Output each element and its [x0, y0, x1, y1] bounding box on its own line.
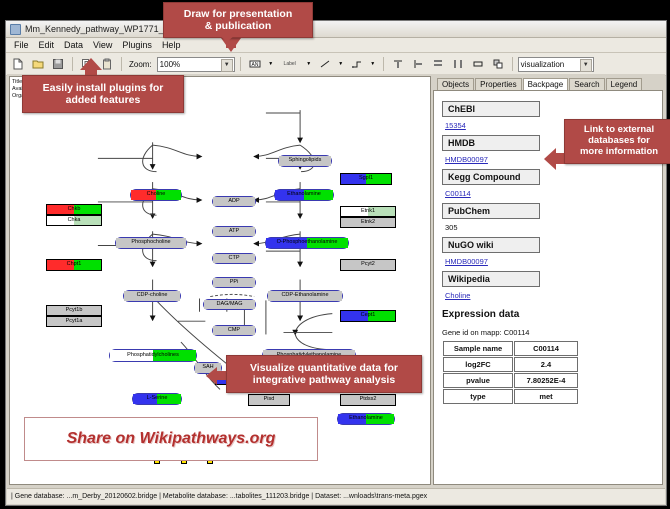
- pathway-node-label: Sphingolipids: [289, 158, 322, 164]
- database-header-chebi: ChEBI: [442, 101, 540, 117]
- pathway-node-label: Ptdss2: [360, 397, 377, 403]
- callout-plugins-line1: Easily install plugins for: [43, 82, 164, 94]
- pathway-node-pcyt1a[interactable]: Pcyt1a: [46, 316, 102, 327]
- pathway-node-label: Chka: [68, 218, 81, 224]
- pathway-node-pcyt2[interactable]: Pcyt2: [340, 259, 396, 271]
- pathway-node-cept1[interactable]: Cept1: [340, 310, 396, 322]
- database-header-wikipedia: Wikipedia: [442, 271, 540, 287]
- expression-value: C00114: [514, 341, 578, 356]
- bring-front-icon[interactable]: [489, 55, 507, 73]
- database-link-nugo-wiki[interactable]: HMDB00097: [445, 257, 654, 266]
- pathway-node-l-serine-left[interactable]: L-Serine: [132, 393, 182, 405]
- gene-id-label: Gene id on mapp: C00114: [442, 328, 654, 337]
- callout-visualize-line1: Visualize quantitative data for: [250, 362, 398, 374]
- pathway-node-pcyt1b[interactable]: Pcyt1b: [46, 305, 102, 316]
- label-chevron-icon[interactable]: ▼: [304, 55, 314, 73]
- visualization-value: visualization: [521, 60, 565, 69]
- pathway-node-label: Chkb: [68, 207, 81, 213]
- callout-draw-line1: Draw for presentation: [184, 8, 293, 20]
- zoom-combobox[interactable]: 100% ▼: [157, 57, 235, 72]
- pathway-node-choline-top[interactable]: Choline: [130, 189, 182, 201]
- pathway-node-label: CTP: [229, 256, 240, 262]
- pathway-node-dagmag[interactable]: DAG/MAG: [203, 299, 256, 310]
- menu-edit[interactable]: Edit: [34, 40, 60, 50]
- expression-key: pvalue: [443, 373, 513, 388]
- pathway-node-ppi[interactable]: PPi: [212, 277, 256, 288]
- pathway-node-label: Pcyt1a: [66, 319, 83, 325]
- pathway-node-sgpl1[interactable]: Sgpl1: [340, 173, 392, 185]
- toolbar: Zoom: 100% ▼ AN ▼ Label ▼ ▼ ▼: [6, 53, 666, 76]
- connector-icon[interactable]: [348, 55, 366, 73]
- expression-row: typemet: [443, 389, 578, 404]
- pathway-node-label: ATP: [229, 229, 239, 235]
- visualization-combobox[interactable]: visualization ▼: [518, 57, 594, 72]
- callout-link-line3: more information: [580, 146, 658, 157]
- expression-value: 2.4: [514, 357, 578, 372]
- pathway-node-adp[interactable]: ADP: [212, 196, 256, 207]
- callout-plugins-line2: added features: [66, 94, 141, 106]
- menu-plugins[interactable]: Plugins: [117, 40, 157, 50]
- tab-legend[interactable]: Legend: [606, 78, 643, 90]
- distribute-icon[interactable]: [449, 55, 467, 73]
- pathway-node-label: Sgpl1: [359, 176, 373, 182]
- callout-easily-install-plugins: Easily install plugins for added feature…: [22, 75, 184, 113]
- pathway-node-cdp-ethanolamine[interactable]: CDP-Ethanolamine: [267, 290, 343, 302]
- expression-value: 7.80252E-4: [514, 373, 578, 388]
- window-titlebar: Mm_Kennedy_pathway_WP1771_45176.gpml: [6, 21, 666, 38]
- line-icon[interactable]: [316, 55, 334, 73]
- toolbar-separator: [240, 57, 241, 71]
- expression-row: pvalue7.80252E-4: [443, 373, 578, 388]
- database-header-pubchem: PubChem: [442, 203, 540, 219]
- tab-objects[interactable]: Objects: [437, 78, 474, 90]
- pathway-node-etnk2[interactable]: Etnk2: [340, 217, 396, 228]
- pathway-node-atp[interactable]: ATP: [212, 226, 256, 237]
- pathway-node-label: Pisd: [264, 397, 275, 403]
- save-icon[interactable]: [49, 55, 67, 73]
- chevron-down-icon[interactable]: ▼: [221, 59, 233, 72]
- zoom-value: 100%: [160, 60, 180, 69]
- menu-view[interactable]: View: [88, 40, 117, 50]
- pathway-node-label: Ethanolamine: [349, 416, 383, 422]
- datanode-chevron-icon[interactable]: ▼: [266, 55, 276, 73]
- pathway-node-label: CMP: [228, 328, 240, 334]
- database-link-kegg-compound[interactable]: C00114: [445, 189, 654, 198]
- align-top-icon[interactable]: [389, 55, 407, 73]
- pathway-node-etnk1[interactable]: Etnk1: [340, 206, 396, 217]
- pathway-node-label: Pcyt1b: [66, 308, 83, 314]
- line-chevron-icon[interactable]: ▼: [336, 55, 346, 73]
- expression-value: met: [514, 389, 578, 404]
- pathway-node-label: CDP-Ethanolamine: [281, 293, 328, 299]
- pathway-node-ctp[interactable]: CTP: [212, 253, 256, 264]
- callout-visualize-quantitative-data: Visualize quantitative data for integrat…: [226, 355, 422, 393]
- callout-visualize-line2: integrative pathway analysis: [253, 374, 395, 386]
- align-left-icon[interactable]: [409, 55, 427, 73]
- screenshot-root: Mm_Kennedy_pathway_WP1771_45176.gpml Fil…: [0, 0, 670, 509]
- svg-text:AN: AN: [251, 62, 258, 68]
- database-link-wikipedia[interactable]: Choline: [445, 291, 654, 300]
- toolbar-separator: [121, 57, 122, 71]
- expression-key: type: [443, 389, 513, 404]
- pathway-node-label: Choline: [147, 192, 166, 198]
- callout-link-line1: Link to external: [584, 124, 654, 135]
- pathway-node-label: Phosphocholine: [131, 240, 170, 246]
- pathway-node-label: PPi: [230, 280, 239, 286]
- group-icon[interactable]: [469, 55, 487, 73]
- pathway-node-label: Chpt1: [67, 262, 82, 268]
- menu-file[interactable]: File: [9, 40, 34, 50]
- pathway-node-label: Cept1: [361, 313, 376, 319]
- application-icon: [10, 24, 21, 35]
- toolbar-separator: [72, 57, 73, 71]
- chevron-down-icon[interactable]: ▼: [580, 59, 592, 72]
- pathway-node-phosphocholine[interactable]: Phosphocholine: [115, 237, 187, 249]
- callout-draw-line2: & publication: [205, 20, 272, 32]
- menubar: File Edit Data View Plugins Help: [6, 38, 666, 53]
- pathway-node-label: Phosphatidylcholines: [127, 353, 179, 359]
- callout-draw-tail-icon: [218, 34, 236, 42]
- expression-key: log2FC: [443, 357, 513, 372]
- new-icon[interactable]: [9, 55, 27, 73]
- pathway-node-label: DAG/MAG: [217, 302, 243, 308]
- pathway-node-label: Etnk1: [361, 209, 375, 215]
- pathway-node-sphingolipids[interactable]: Sphingolipids: [278, 155, 332, 167]
- expression-row: Sample nameC00114: [443, 341, 578, 356]
- connector-chevron-icon[interactable]: ▼: [368, 55, 378, 73]
- menu-help[interactable]: Help: [157, 40, 186, 50]
- pathway-node-o-phosphoethanolamine[interactable]: O-Phosphoethanolamine: [265, 237, 349, 249]
- pathway-node-label: L-Serine: [147, 396, 168, 402]
- pathway-node-label: ADP: [228, 199, 239, 205]
- pathway-node-cmp[interactable]: CMP: [212, 325, 256, 336]
- expression-table: Sample nameC00114log2FC2.4pvalue7.80252E…: [442, 340, 579, 405]
- tab-search[interactable]: Search: [569, 78, 604, 90]
- menu-data[interactable]: Data: [59, 40, 88, 50]
- pathway-node-label: O-Phosphoethanolamine: [277, 240, 338, 246]
- database-header-kegg-compound: Kegg Compound: [442, 169, 540, 185]
- expression-key: Sample name: [443, 341, 513, 356]
- tab-properties[interactable]: Properties: [475, 78, 521, 90]
- database-header-nugo-wiki: NuGO wiki: [442, 237, 540, 253]
- statusbar-text: | Gene database: ...m_Derby_20120602.bri…: [11, 493, 427, 500]
- label-icon[interactable]: Label: [278, 55, 302, 73]
- pathway-node-label: Etnk2: [361, 220, 375, 226]
- expression-row: log2FC2.4: [443, 357, 578, 372]
- pathway-node-label: Ethanolamine: [287, 192, 321, 198]
- callout-share-wikipathways: Share on Wikipathways.org: [24, 417, 318, 461]
- toolbar-separator: [383, 57, 384, 71]
- pathway-node-ethanolamine-bottom[interactable]: Ethanolamine: [337, 413, 395, 425]
- database-header-hmdb: HMDB: [442, 135, 540, 151]
- callout-link-line2: databases for: [588, 135, 650, 146]
- stack-icon[interactable]: [429, 55, 447, 73]
- zoom-label: Zoom:: [129, 60, 152, 69]
- pathway-node-chkb[interactable]: Chkb: [46, 204, 102, 215]
- pathway-node-chpt1[interactable]: Chpt1: [46, 259, 102, 271]
- toolbar-separator: [512, 57, 513, 71]
- callout-draw-for-presentation: Draw for presentation & publication: [163, 2, 313, 38]
- pathway-node-ethanolamine-top[interactable]: Ethanolamine: [274, 189, 334, 201]
- pathway-node-label: Pcyt2: [361, 262, 375, 268]
- callout-link-external-databases: Link to external databases for more info…: [564, 119, 670, 164]
- pathway-node-phosphatidylcholines[interactable]: Phosphatidylcholines: [109, 349, 197, 362]
- pathway-node-cdp-choline[interactable]: CDP-choline: [123, 290, 181, 302]
- open-icon[interactable]: [29, 55, 47, 73]
- database-value-pubchem: 305: [445, 223, 654, 232]
- pathway-node-pisd[interactable]: Pisd: [248, 394, 290, 406]
- side-panel-tabs: ObjectsPropertiesBackpageSearchLegend: [433, 76, 663, 90]
- pathway-node-chka[interactable]: Chka: [46, 215, 102, 226]
- pathway-node-ptdss2[interactable]: Ptdss2: [340, 394, 396, 406]
- expression-data-header: Expression data: [442, 309, 654, 320]
- share-text: Share on Wikipathways.org: [67, 430, 276, 448]
- pathway-node-label: CDP-choline: [137, 293, 168, 299]
- datanode-icon[interactable]: AN: [246, 55, 264, 73]
- statusbar: | Gene database: ...m_Derby_20120602.bri…: [7, 488, 665, 504]
